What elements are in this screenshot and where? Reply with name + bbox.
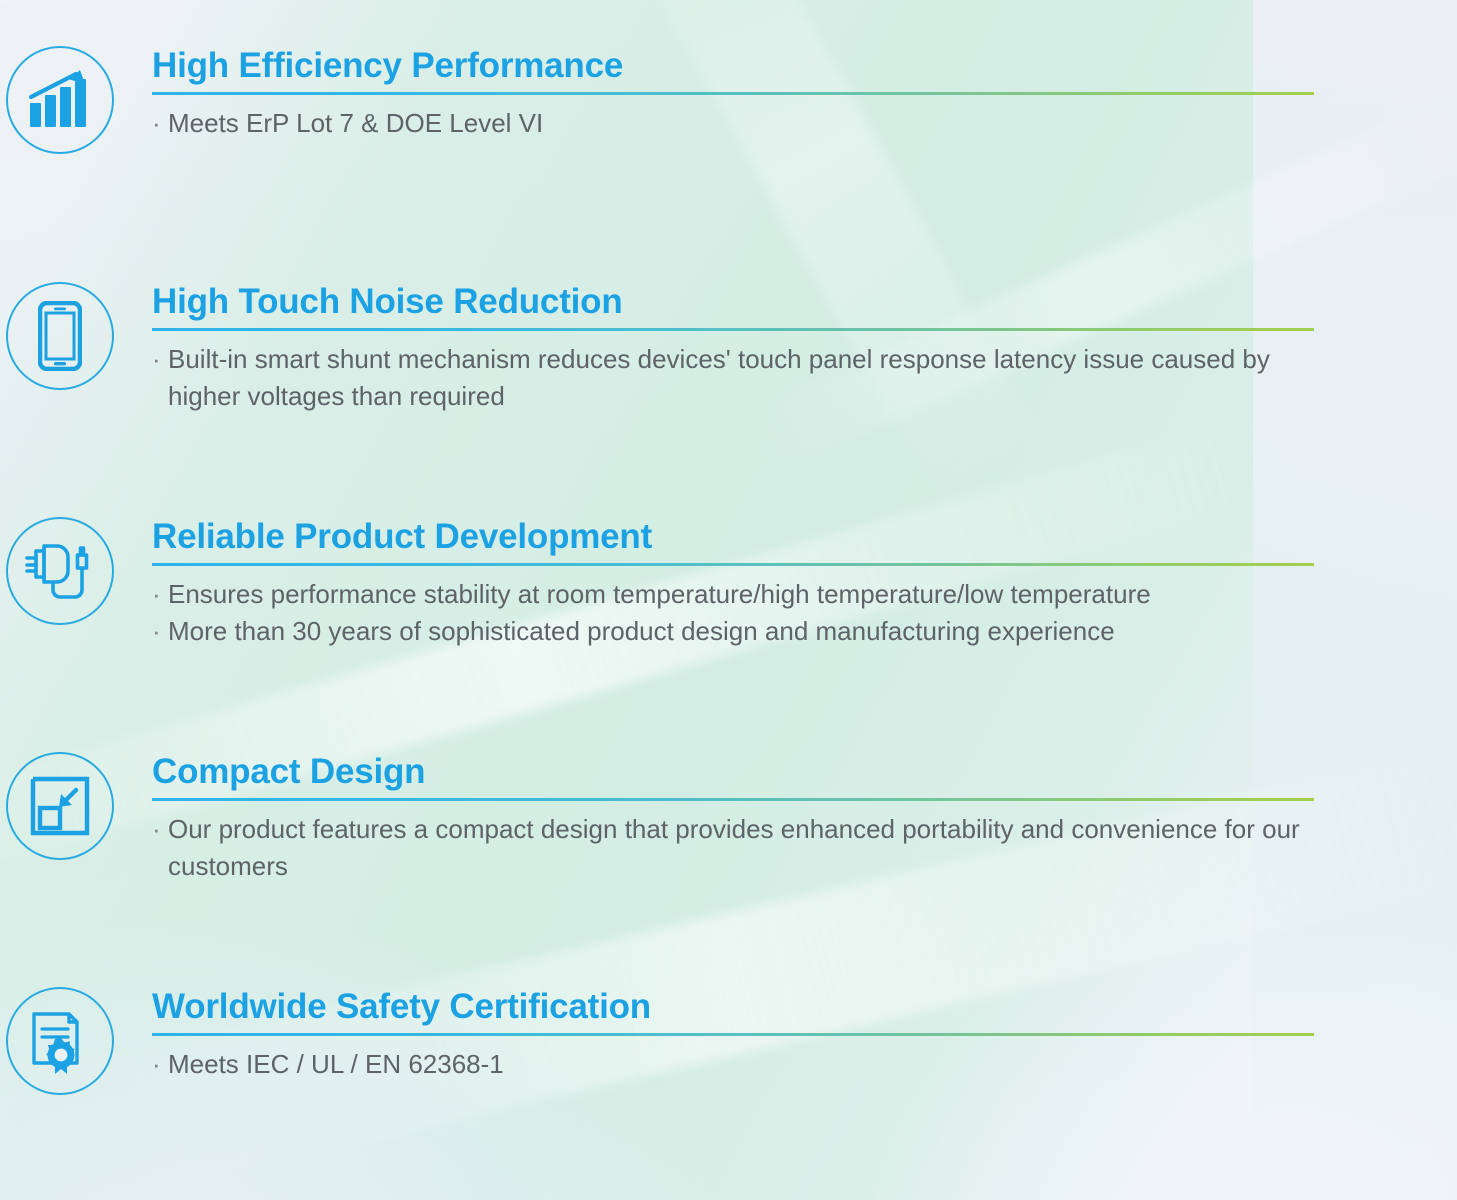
feature-bullet-list: · Built-in smart shunt mechanism reduces…: [152, 341, 1457, 415]
feature-bullet-list: · Meets IEC / UL / EN 62368-1: [152, 1046, 1457, 1083]
feature-icon-wrapper: [0, 280, 120, 390]
feature-item-high-efficiency-performance: High Efficiency Performance · Meets ErP …: [0, 44, 1457, 154]
bar-chart-growth-icon: [28, 69, 92, 131]
feature-title: High Efficiency Performance: [152, 44, 1457, 88]
bullet-text: Meets IEC / UL / EN 62368-1: [168, 1046, 1333, 1083]
bullet-text: Built-in smart shunt mechanism reduces d…: [168, 341, 1333, 415]
feature-divider: [152, 798, 1314, 801]
feature-icon-wrapper: [0, 44, 120, 154]
feature-item-reliable-product-development: Reliable Product Development · Ensures p…: [0, 515, 1457, 650]
feature-body: Reliable Product Development · Ensures p…: [120, 515, 1457, 650]
feature-bullet: · Ensures performance stability at room …: [152, 576, 1457, 613]
feature-title: Compact Design: [152, 750, 1457, 794]
icon-circle-frame: [6, 517, 114, 625]
feature-title: High Touch Noise Reduction: [152, 280, 1457, 324]
feature-bullet-list: · Meets ErP Lot 7 & DOE Level VI: [152, 105, 1457, 142]
feature-body: High Touch Noise Reduction · Built-in sm…: [120, 280, 1457, 415]
bullet-marker: ·: [152, 613, 168, 650]
feature-divider: [152, 563, 1314, 566]
feature-body: High Efficiency Performance · Meets ErP …: [120, 44, 1457, 142]
feature-bullet: · Meets ErP Lot 7 & DOE Level VI: [152, 105, 1457, 142]
icon-circle-frame: [6, 46, 114, 154]
resize-compact-icon: [30, 776, 90, 836]
feature-bullet-list: · Our product features a compact design …: [152, 811, 1457, 885]
bullet-marker: ·: [152, 105, 168, 142]
smartphone-icon: [38, 301, 82, 371]
icon-circle-frame: [6, 752, 114, 860]
feature-icon-wrapper: [0, 750, 120, 860]
power-adapter-icon: [23, 538, 97, 604]
feature-item-high-touch-noise-reduction: High Touch Noise Reduction · Built-in sm…: [0, 280, 1457, 415]
feature-bullet-list: · Ensures performance stability at room …: [152, 576, 1457, 650]
feature-icon-wrapper: [0, 985, 120, 1095]
feature-body: Worldwide Safety Certification · Meets I…: [120, 985, 1457, 1083]
bullet-text: Meets ErP Lot 7 & DOE Level VI: [168, 105, 1333, 142]
feature-item-compact-design: Compact Design · Our product features a …: [0, 750, 1457, 885]
bullet-marker: ·: [152, 576, 168, 613]
feature-bullet: · Meets IEC / UL / EN 62368-1: [152, 1046, 1457, 1083]
feature-divider: [152, 92, 1314, 95]
bullet-text: Ensures performance stability at room te…: [168, 576, 1333, 613]
bullet-marker: ·: [152, 811, 168, 885]
bullet-text: Our product features a compact design th…: [168, 811, 1333, 885]
feature-divider: [152, 1033, 1314, 1036]
bullet-text: More than 30 years of sophisticated prod…: [168, 613, 1333, 650]
icon-circle-frame: [6, 282, 114, 390]
feature-item-worldwide-safety-certification: Worldwide Safety Certification · Meets I…: [0, 985, 1457, 1095]
feature-body: Compact Design · Our product features a …: [120, 750, 1457, 885]
feature-bullet: · Our product features a compact design …: [152, 811, 1457, 885]
bullet-marker: ·: [152, 341, 168, 415]
certificate-award-icon: [29, 1007, 91, 1075]
bullet-marker: ·: [152, 1046, 168, 1083]
feature-title: Worldwide Safety Certification: [152, 985, 1457, 1029]
feature-title: Reliable Product Development: [152, 515, 1457, 559]
feature-divider: [152, 328, 1314, 331]
feature-bullet: · More than 30 years of sophisticated pr…: [152, 613, 1457, 650]
icon-circle-frame: [6, 987, 114, 1095]
feature-icon-wrapper: [0, 515, 120, 625]
feature-list: High Efficiency Performance · Meets ErP …: [0, 0, 1457, 1200]
feature-bullet: · Built-in smart shunt mechanism reduces…: [152, 341, 1457, 415]
